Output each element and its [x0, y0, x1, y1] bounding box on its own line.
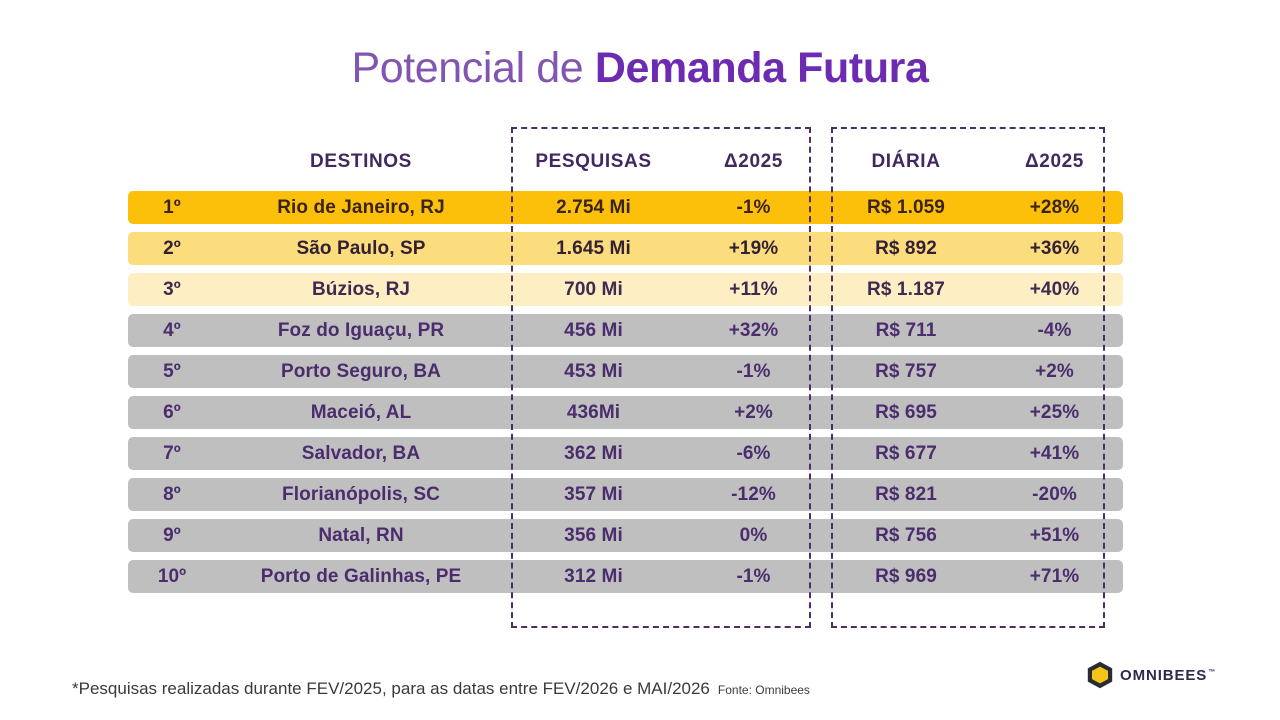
cell-destino: Porto Seguro, BA	[216, 361, 506, 383]
cell-destino: Porto de Galinhas, PE	[216, 566, 506, 588]
cell-delta-diaria: +41%	[986, 443, 1123, 465]
footnote: *Pesquisas realizadas durante FEV/2025, …	[72, 679, 810, 699]
cell-delta-diaria: +51%	[986, 525, 1123, 547]
cell-delta-pesquisas: -1%	[681, 197, 826, 219]
omnibees-logo: OMNIBEES™	[1087, 661, 1216, 689]
cell-pesquisas: 312 Mi	[506, 566, 681, 588]
cell-diaria: R$ 711	[826, 320, 986, 342]
table-row[interactable]: 8ºFlorianópolis, SC357 Mi-12%R$ 821-20%	[128, 478, 1123, 511]
cell-destino: Florianópolis, SC	[216, 484, 506, 506]
demand-table: DESTINOS PESQUISAS Δ2025 DIÁRIA Δ2025 1º…	[128, 140, 1123, 601]
table-row[interactable]: 1ºRio de Janeiro, RJ2.754 Mi-1%R$ 1.059+…	[128, 191, 1123, 224]
cell-destino: Foz do Iguaçu, PR	[216, 320, 506, 342]
table-row[interactable]: 6ºMaceió, AL436Mi+2%R$ 695+25%	[128, 396, 1123, 429]
logo-wordmark: OMNIBEES™	[1120, 667, 1216, 684]
cell-diaria: R$ 677	[826, 443, 986, 465]
cell-delta-pesquisas: -1%	[681, 566, 826, 588]
cell-delta-diaria: +40%	[986, 279, 1123, 301]
cell-delta-pesquisas: +19%	[681, 238, 826, 260]
cell-pesquisas: 1.645 Mi	[506, 238, 681, 260]
cell-diaria: R$ 757	[826, 361, 986, 383]
cell-rank: 5º	[128, 361, 216, 383]
table-row[interactable]: 7ºSalvador, BA362 Mi-6%R$ 677+41%	[128, 437, 1123, 470]
cell-destino: Maceió, AL	[216, 402, 506, 424]
cell-delta-pesquisas: +32%	[681, 320, 826, 342]
table-body: 1ºRio de Janeiro, RJ2.754 Mi-1%R$ 1.059+…	[128, 191, 1123, 593]
cell-delta-pesquisas: +2%	[681, 402, 826, 424]
cell-rank: 2º	[128, 238, 216, 260]
slide-canvas: { "title": { "light": "Potencial de ", "…	[0, 0, 1280, 720]
logo-name: OMNIBEES	[1120, 667, 1207, 684]
cell-diaria: R$ 1.187	[826, 279, 986, 301]
cell-rank: 7º	[128, 443, 216, 465]
header-pesquisas: PESQUISAS	[506, 151, 681, 173]
cell-diaria: R$ 1.059	[826, 197, 986, 219]
page-title: Potencial de Demanda Futura	[0, 44, 1280, 93]
header-delta-diaria: Δ2025	[986, 151, 1123, 173]
cell-diaria: R$ 969	[826, 566, 986, 588]
cell-delta-diaria: +28%	[986, 197, 1123, 219]
page-title-bold: Demanda Futura	[595, 44, 929, 92]
cell-delta-pesquisas: -1%	[681, 361, 826, 383]
cell-delta-diaria: -4%	[986, 320, 1123, 342]
cell-pesquisas: 456 Mi	[506, 320, 681, 342]
page-title-light: Potencial de	[351, 44, 594, 92]
cell-pesquisas: 453 Mi	[506, 361, 681, 383]
cell-diaria: R$ 821	[826, 484, 986, 506]
cell-rank: 4º	[128, 320, 216, 342]
cell-destino: Natal, RN	[216, 525, 506, 547]
cell-pesquisas: 362 Mi	[506, 443, 681, 465]
header-delta-pesquisas: Δ2025	[681, 151, 826, 173]
cell-delta-diaria: +71%	[986, 566, 1123, 588]
cell-destino: Rio de Janeiro, RJ	[216, 197, 506, 219]
cell-destino: Búzios, RJ	[216, 279, 506, 301]
logo-trademark: ™	[1208, 669, 1216, 676]
header-diaria: DIÁRIA	[826, 151, 986, 173]
cell-diaria: R$ 695	[826, 402, 986, 424]
table-row[interactable]: 5ºPorto Seguro, BA453 Mi-1%R$ 757+2%	[128, 355, 1123, 388]
header-destinos: DESTINOS	[216, 151, 506, 173]
cell-delta-pesquisas: 0%	[681, 525, 826, 547]
cell-diaria: R$ 756	[826, 525, 986, 547]
cell-rank: 9º	[128, 525, 216, 547]
cell-delta-pesquisas: +11%	[681, 279, 826, 301]
cell-diaria: R$ 892	[826, 238, 986, 260]
cell-delta-pesquisas: -6%	[681, 443, 826, 465]
cell-delta-diaria: +2%	[986, 361, 1123, 383]
footnote-text: *Pesquisas realizadas durante FEV/2025, …	[72, 679, 710, 698]
cell-delta-diaria: +36%	[986, 238, 1123, 260]
cell-rank: 6º	[128, 402, 216, 424]
cell-destino: São Paulo, SP	[216, 238, 506, 260]
hexagon-icon	[1087, 661, 1113, 689]
cell-rank: 1º	[128, 197, 216, 219]
table-header-row: DESTINOS PESQUISAS Δ2025 DIÁRIA Δ2025	[128, 140, 1123, 184]
footnote-source: Fonte: Omnibees	[718, 683, 810, 697]
table-row[interactable]: 4ºFoz do Iguaçu, PR456 Mi+32%R$ 711-4%	[128, 314, 1123, 347]
cell-destino: Salvador, BA	[216, 443, 506, 465]
table-row[interactable]: 2ºSão Paulo, SP1.645 Mi+19%R$ 892+36%	[128, 232, 1123, 265]
cell-rank: 8º	[128, 484, 216, 506]
table-row[interactable]: 3ºBúzios, RJ700 Mi+11%R$ 1.187+40%	[128, 273, 1123, 306]
cell-delta-diaria: -20%	[986, 484, 1123, 506]
cell-delta-pesquisas: -12%	[681, 484, 826, 506]
cell-pesquisas: 436Mi	[506, 402, 681, 424]
cell-pesquisas: 356 Mi	[506, 525, 681, 547]
cell-pesquisas: 2.754 Mi	[506, 197, 681, 219]
table-row[interactable]: 10ºPorto de Galinhas, PE312 Mi-1%R$ 969+…	[128, 560, 1123, 593]
cell-delta-diaria: +25%	[986, 402, 1123, 424]
cell-rank: 10º	[128, 566, 216, 588]
cell-pesquisas: 357 Mi	[506, 484, 681, 506]
cell-pesquisas: 700 Mi	[506, 279, 681, 301]
table-row[interactable]: 9ºNatal, RN356 Mi0%R$ 756+51%	[128, 519, 1123, 552]
cell-rank: 3º	[128, 279, 216, 301]
